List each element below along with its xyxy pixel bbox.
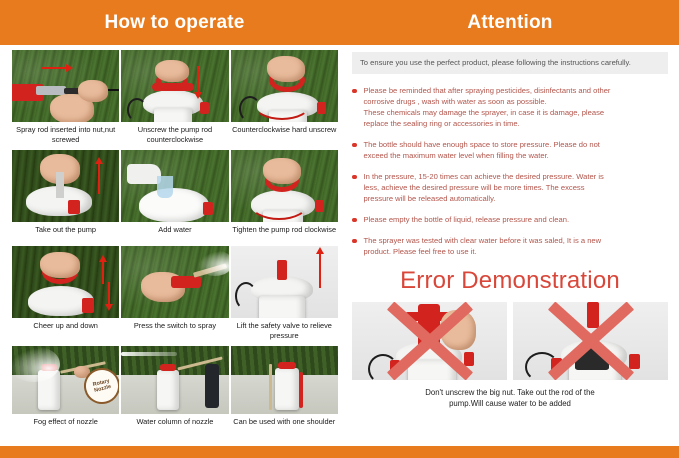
bullet-dot	[352, 89, 357, 94]
step-row: Cheer up and down Press the switch to sp…	[12, 246, 338, 344]
step-row: Rotary Nozzle Fog effect of nozzle Wat	[12, 346, 338, 436]
step-photo-fog: Rotary Nozzle	[12, 346, 119, 414]
step-photo-take-pump	[12, 150, 119, 222]
bullet-dot	[352, 218, 357, 223]
step-photo-press-switch	[121, 246, 228, 318]
step-cell-10: Rotary Nozzle Fog effect of nozzle	[12, 346, 119, 436]
step-cell-5: Add water	[121, 150, 228, 244]
step-cell-8: Press the switch to spray	[121, 246, 228, 344]
step-row: Take out the pump Add water	[12, 150, 338, 244]
bullet-dot	[352, 175, 357, 180]
step-caption: Take out the pump	[12, 222, 119, 244]
step-caption: Add water	[121, 222, 228, 244]
step-cell-7: Cheer up and down	[12, 246, 119, 344]
step-photo-pump-down	[121, 50, 228, 122]
step-cell-9: Lift the safety valve to relieve pressur…	[231, 246, 338, 344]
step-cell-3: Counterclockwise hard unscrew	[231, 50, 338, 148]
step-cell-1: Spray rod inserted into nut,nut screwed	[12, 50, 119, 148]
how-to-operate-grid: Spray rod inserted into nut,nut screwed …	[12, 50, 338, 442]
bullet-text: The bottle should have enough space to s…	[364, 139, 600, 161]
step-caption: Unscrew the pump rod counterclockwise	[121, 122, 228, 148]
step-cell-6: Tighten the pump rod clockwise	[231, 150, 338, 244]
page-title-how-to-operate: How to operate	[12, 11, 337, 35]
page-title-attention: Attention	[350, 11, 670, 35]
list-item: The sprayer was tested with clear water …	[352, 235, 668, 257]
step-cell-12: Can be used with one shoulder	[231, 346, 338, 436]
step-photo-pump-updown	[12, 246, 119, 318]
list-item: Please empty the bottle of liquid, relea…	[352, 214, 668, 225]
red-x-icon	[352, 302, 507, 380]
attention-bullet-list: Please be reminded that after spraying p…	[352, 85, 668, 257]
step-photo-shoulder	[231, 346, 338, 414]
bullet-text: Please empty the bottle of liquid, relea…	[364, 214, 570, 225]
step-caption: Press the switch to spray	[121, 318, 228, 340]
bullet-text: In the pressure, 15-20 times can achieve…	[364, 171, 604, 204]
step-row: Spray rod inserted into nut,nut screwed …	[12, 50, 338, 148]
step-cell-2: Unscrew the pump rod counterclockwise	[121, 50, 228, 148]
step-caption: Cheer up and down	[12, 318, 119, 340]
step-cell-4: Take out the pump	[12, 150, 119, 244]
red-x-icon	[513, 302, 668, 380]
step-caption: Fog effect of nozzle	[12, 414, 119, 436]
step-photo-rod-insert	[12, 50, 119, 122]
step-caption: Water column of nozzle	[121, 414, 228, 436]
list-item: Please be reminded that after spraying p…	[352, 85, 668, 129]
step-photo-column	[121, 346, 228, 414]
bullet-dot	[352, 239, 357, 244]
step-caption: Can be used with one shoulder	[231, 414, 338, 436]
step-photo-safety-valve	[231, 246, 338, 318]
error-photo-unscrew-nut	[352, 302, 507, 380]
step-caption: Lift the safety valve to relieve pressur…	[231, 318, 338, 344]
step-photo-add-water	[121, 150, 228, 222]
step-photo-tighten	[231, 150, 338, 222]
manual-page: How to operate Attention Spray rod inser…	[0, 0, 679, 458]
list-item: In the pressure, 15-20 times can achieve…	[352, 171, 668, 204]
step-photo-pump-twist	[231, 50, 338, 122]
error-caption: Don't unscrew the big nut. Take out the …	[352, 387, 668, 409]
step-caption: Counterclockwise hard unscrew	[231, 122, 338, 144]
step-caption: Spray rod inserted into nut,nut screwed	[12, 122, 119, 148]
attention-intro: To ensure you use the perfect product, p…	[352, 52, 668, 74]
error-photo-take-out-rod	[513, 302, 668, 380]
attention-panel: To ensure you use the perfect product, p…	[352, 52, 668, 409]
bullet-text: Please be reminded that after spraying p…	[364, 85, 611, 129]
step-caption: Tighten the pump rod clockwise	[231, 222, 338, 244]
step-cell-11: Water column of nozzle	[121, 346, 228, 436]
bullet-text: The sprayer was tested with clear water …	[364, 235, 602, 257]
error-image-row	[352, 302, 668, 380]
footer-bar	[0, 446, 679, 458]
error-demonstration-title: Error Demonstration	[352, 267, 668, 295]
list-item: The bottle should have enough space to s…	[352, 139, 668, 161]
bullet-dot	[352, 143, 357, 148]
